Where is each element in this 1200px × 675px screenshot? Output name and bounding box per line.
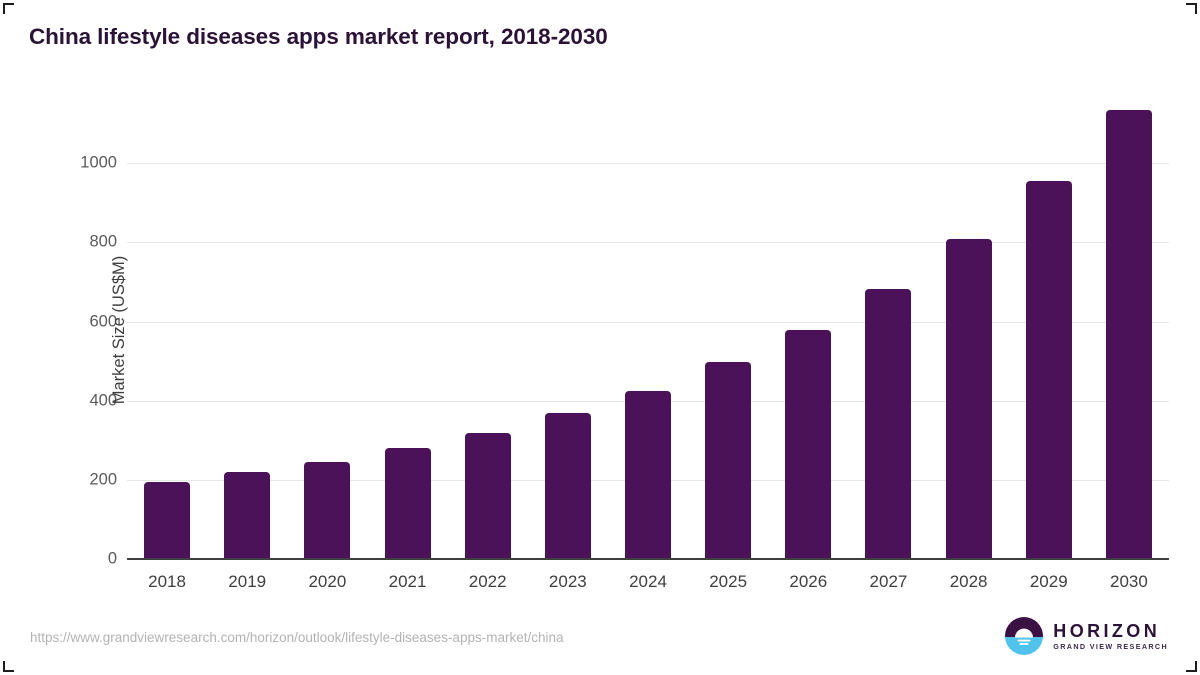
x-axis-tick-label: 2020 [308, 572, 346, 592]
bar[interactable] [625, 391, 671, 559]
y-axis-tick-label: 0 [0, 550, 117, 569]
x-axis-tick-label: 2028 [950, 572, 988, 592]
bar[interactable] [224, 472, 270, 559]
bar[interactable] [144, 482, 190, 559]
bar[interactable] [545, 413, 591, 559]
bar[interactable] [1106, 110, 1152, 559]
gridline [127, 163, 1169, 164]
gridline [127, 322, 1169, 323]
crop-mark-bottom-left [3, 661, 14, 672]
x-axis-tick-label: 2024 [629, 572, 667, 592]
x-axis-tick-label: 2030 [1110, 572, 1148, 592]
crop-mark-bottom-right [1186, 661, 1197, 672]
crop-mark-top-right [1186, 3, 1197, 14]
y-axis-tick-label: 600 [0, 312, 117, 331]
x-axis-tick-label: 2025 [709, 572, 747, 592]
logo-wordmark: HORIZON [1053, 622, 1168, 640]
bar[interactable] [946, 239, 992, 559]
bar[interactable] [465, 433, 511, 559]
crop-mark-top-left [3, 3, 14, 14]
bar[interactable] [1026, 181, 1072, 559]
x-axis-tick-label: 2022 [469, 572, 507, 592]
x-axis-tick-label: 2029 [1030, 572, 1068, 592]
y-axis-tick-label: 200 [0, 470, 117, 489]
gridline [127, 242, 1169, 243]
x-axis-line [127, 558, 1169, 560]
horizon-sun-circle-icon [1004, 616, 1044, 656]
chart-title: China lifestyle diseases apps market rep… [29, 24, 608, 50]
bar[interactable] [385, 448, 431, 559]
y-axis-tick-label: 1000 [0, 154, 117, 173]
brand-logo: HORIZON GRAND VIEW RESEARCH [1004, 616, 1168, 656]
y-axis-tick-label: 800 [0, 233, 117, 252]
x-axis-tick-label: 2023 [549, 572, 587, 592]
bar[interactable] [705, 362, 751, 559]
x-axis-tick-label: 2021 [389, 572, 427, 592]
x-axis-tick-label: 2026 [789, 572, 827, 592]
y-axis-title: Market Size (US$M) [110, 255, 129, 404]
bar[interactable] [785, 330, 831, 559]
source-url[interactable]: https://www.grandviewresearch.com/horizo… [30, 630, 564, 645]
logo-text: HORIZON GRAND VIEW RESEARCH [1053, 622, 1168, 650]
bar[interactable] [304, 462, 350, 559]
bar[interactable] [865, 289, 911, 559]
y-axis-tick-label: 400 [0, 391, 117, 410]
plot-area: 02004006008001000 2018201920202021202220… [127, 100, 1169, 559]
x-axis-tick-label: 2019 [228, 572, 266, 592]
x-axis-tick-label: 2027 [870, 572, 908, 592]
chart-canvas: China lifestyle diseases apps market rep… [0, 0, 1200, 675]
logo-tagline: GRAND VIEW RESEARCH [1053, 643, 1168, 650]
x-axis-tick-label: 2018 [148, 572, 186, 592]
